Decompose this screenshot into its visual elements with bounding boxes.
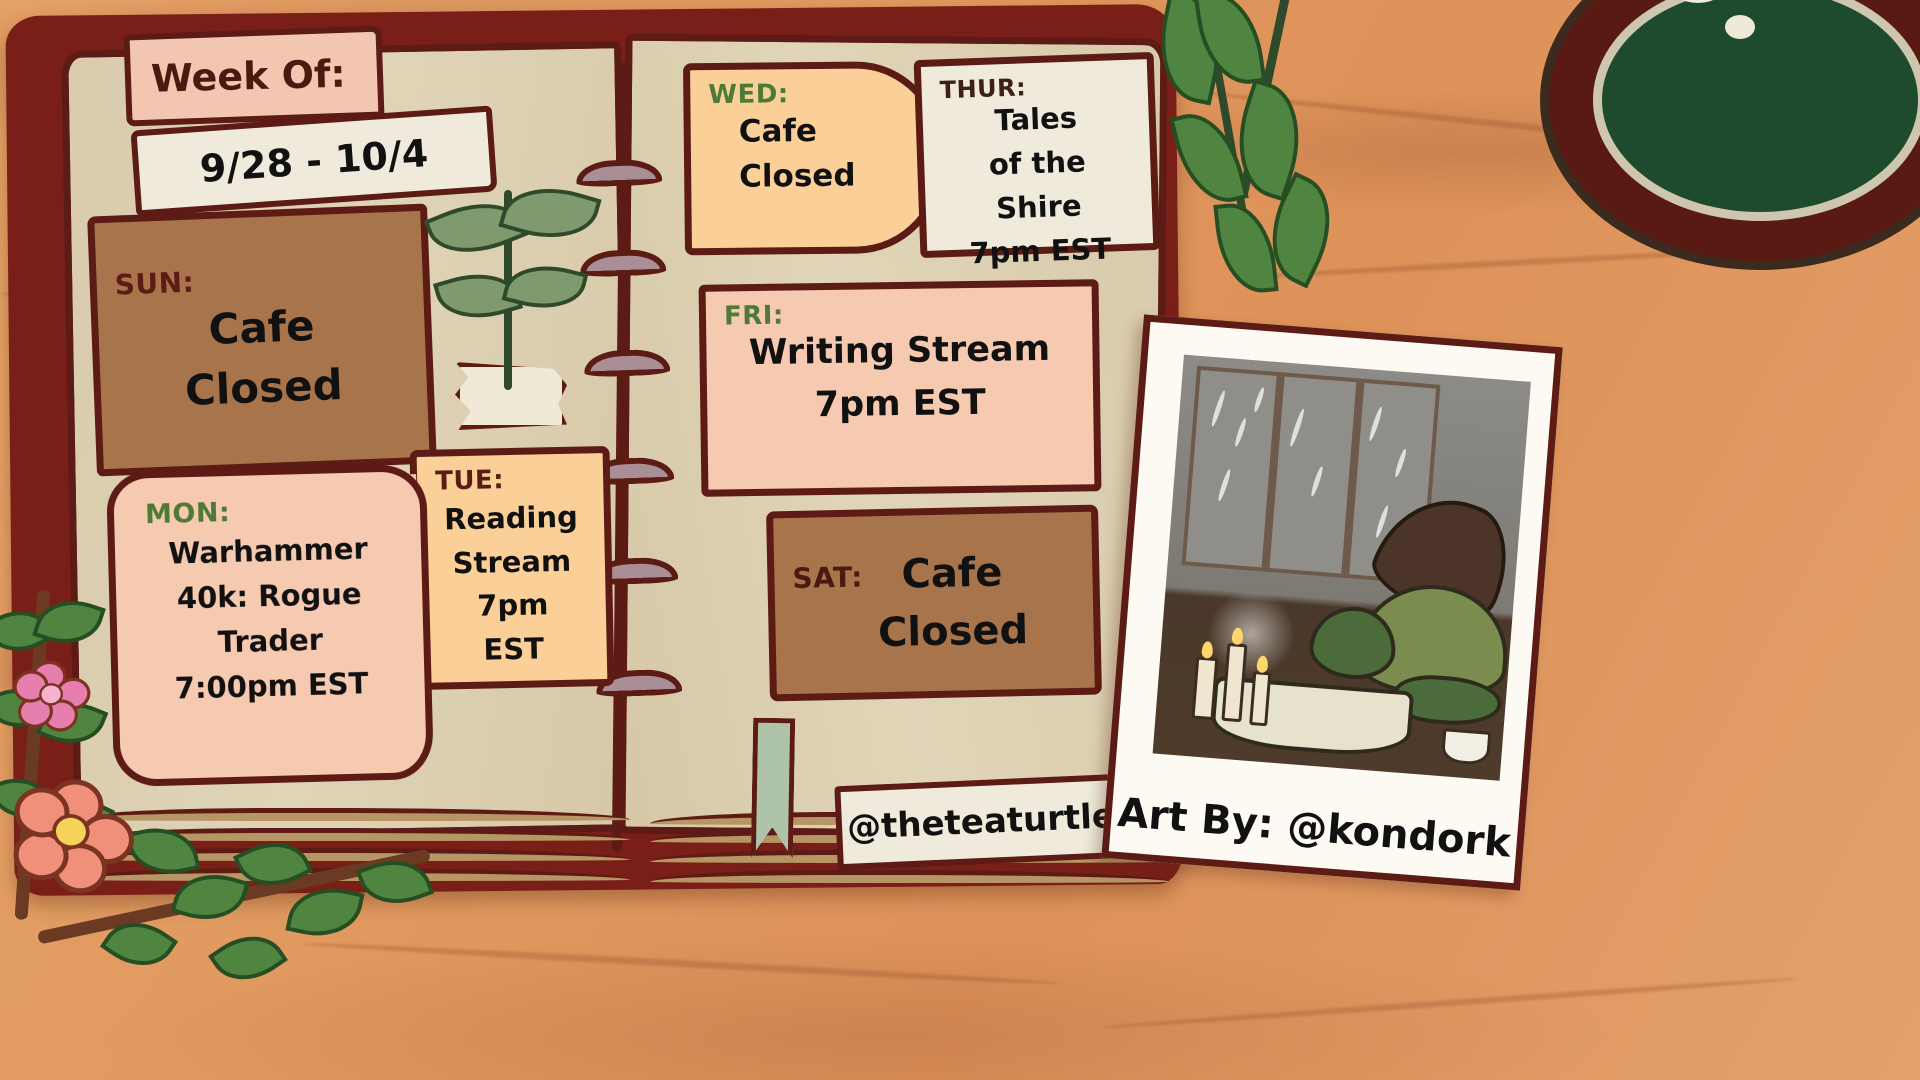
plant-leaf xyxy=(1213,199,1278,296)
day-card-wednesday: WED: Cafe Closed xyxy=(683,61,947,256)
vine-leaf xyxy=(208,920,288,996)
day-label-saturday: SAT: xyxy=(792,546,863,594)
day-content-thursday: Tales of the Shire 7pm EST xyxy=(940,94,1136,277)
vine-leaf xyxy=(126,820,201,883)
teacup xyxy=(1441,728,1492,766)
polaroid-photo-card: Art By: @kondork xyxy=(1101,314,1562,890)
week-of-label: Week Of: xyxy=(123,26,384,127)
rain-streak xyxy=(1394,448,1408,478)
social-handle-tag[interactable]: @theteaturtle xyxy=(834,774,1127,871)
day-label-wednesday: WED: xyxy=(708,78,920,110)
art-credit-text: Art By: @kondork xyxy=(1116,790,1513,867)
rain-streak xyxy=(1368,406,1384,442)
pink-flower xyxy=(10,655,94,736)
day-content-wednesday: Cafe Closed xyxy=(708,108,921,200)
page-edge xyxy=(650,870,1170,883)
day-content-saturday: Cafe Closed xyxy=(876,543,1029,662)
art-credit: Art By: @kondork xyxy=(1110,789,1518,867)
rain-streak xyxy=(1210,390,1227,428)
day-card-sunday: SUN: Cafe Closed xyxy=(87,204,437,477)
photo-illustration xyxy=(1153,355,1531,781)
day-label-monday: MON: xyxy=(145,493,398,531)
orange-flower xyxy=(8,772,137,894)
rain-streak xyxy=(1288,408,1305,448)
vine-leaf xyxy=(170,864,249,931)
saturday-row: SAT: Cafe Closed xyxy=(792,542,1076,664)
rain-streak xyxy=(1217,468,1233,502)
flowering-vine xyxy=(0,590,510,1080)
day-content-friday: Writing Stream 7pm EST xyxy=(724,323,1075,433)
plant-leaf xyxy=(1169,104,1249,211)
day-card-saturday: SAT: Cafe Closed xyxy=(766,505,1102,702)
schedule-graphic: Week Of: 9/28 - 10/4 SUN: Cafe Closed MO… xyxy=(0,0,1920,1080)
week-of-text: Week Of: xyxy=(150,52,346,101)
week-date-text: 9/28 - 10/4 xyxy=(198,131,429,191)
plate-inner-ring xyxy=(1593,0,1920,221)
day-content-sunday: Cafe Closed xyxy=(115,292,409,422)
day-label-tuesday: TUE: xyxy=(435,463,586,496)
day-card-friday: FRI: Writing Stream 7pm EST xyxy=(699,279,1102,497)
day-card-thursday: THUR: Tales of the Shire 7pm EST xyxy=(914,52,1161,258)
sprout-plant xyxy=(420,180,610,440)
window-mullion xyxy=(1262,376,1285,568)
plate-blob xyxy=(1725,15,1755,39)
rain-streak xyxy=(1253,387,1266,413)
social-handle-text: @theteaturtle xyxy=(846,796,1115,848)
rain-streak xyxy=(1233,417,1247,447)
rain-streak xyxy=(1310,465,1325,497)
hanging-plant xyxy=(1140,0,1420,350)
window-mullion xyxy=(1341,382,1364,574)
